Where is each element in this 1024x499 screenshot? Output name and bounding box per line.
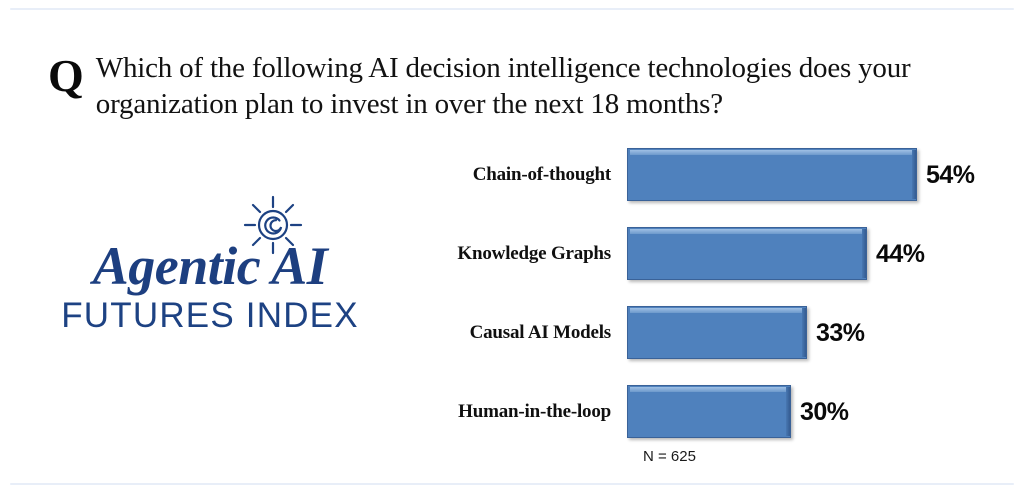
question-marker: Q [48, 50, 84, 98]
chart-row: Human-in-the-loop 30% [420, 385, 1000, 438]
bar-knowledge-graphs [627, 227, 867, 280]
sample-size-note: N = 625 [643, 448, 696, 466]
bar-value-label: 54% [926, 162, 975, 188]
question-block: Q Which of the following AI decision int… [48, 50, 948, 122]
logo-subtitle: FUTURES INDEX [60, 296, 360, 336]
bar-category-label: Knowledge Graphs [420, 243, 627, 265]
bar-track: 30% [627, 385, 1000, 438]
bar-value-label: 33% [816, 320, 865, 346]
bar-track: 54% [627, 148, 1000, 201]
chart-row: Knowledge Graphs 44% [420, 227, 1000, 280]
bar-value-label: 44% [876, 241, 925, 267]
bar-chart: Chain-of-thought 54% Knowledge Graphs 44… [420, 148, 1000, 468]
bar-category-label: Chain-of-thought [420, 164, 627, 186]
bar-category-label: Human-in-the-loop [420, 401, 627, 423]
bar-human-in-the-loop [627, 385, 791, 438]
logo-wordmark: Agentic AI [60, 236, 360, 296]
bar-category-label: Causal AI Models [420, 322, 627, 344]
slide-canvas: Q Which of the following AI decision int… [0, 0, 1024, 499]
bar-track: 33% [627, 306, 1000, 359]
chart-row: Chain-of-thought 54% [420, 148, 1000, 201]
bar-track: 44% [627, 227, 1000, 280]
top-divider [10, 8, 1014, 10]
bar-chain-of-thought [627, 148, 917, 201]
bar-causal-ai-models [627, 306, 807, 359]
brand-logo: Agentic AI FUTURES INDEX [60, 192, 360, 347]
question-text: Which of the following AI decision intel… [96, 50, 936, 122]
bottom-divider [10, 483, 1014, 485]
chart-row: Causal AI Models 33% [420, 306, 1000, 359]
bar-value-label: 30% [800, 399, 849, 425]
